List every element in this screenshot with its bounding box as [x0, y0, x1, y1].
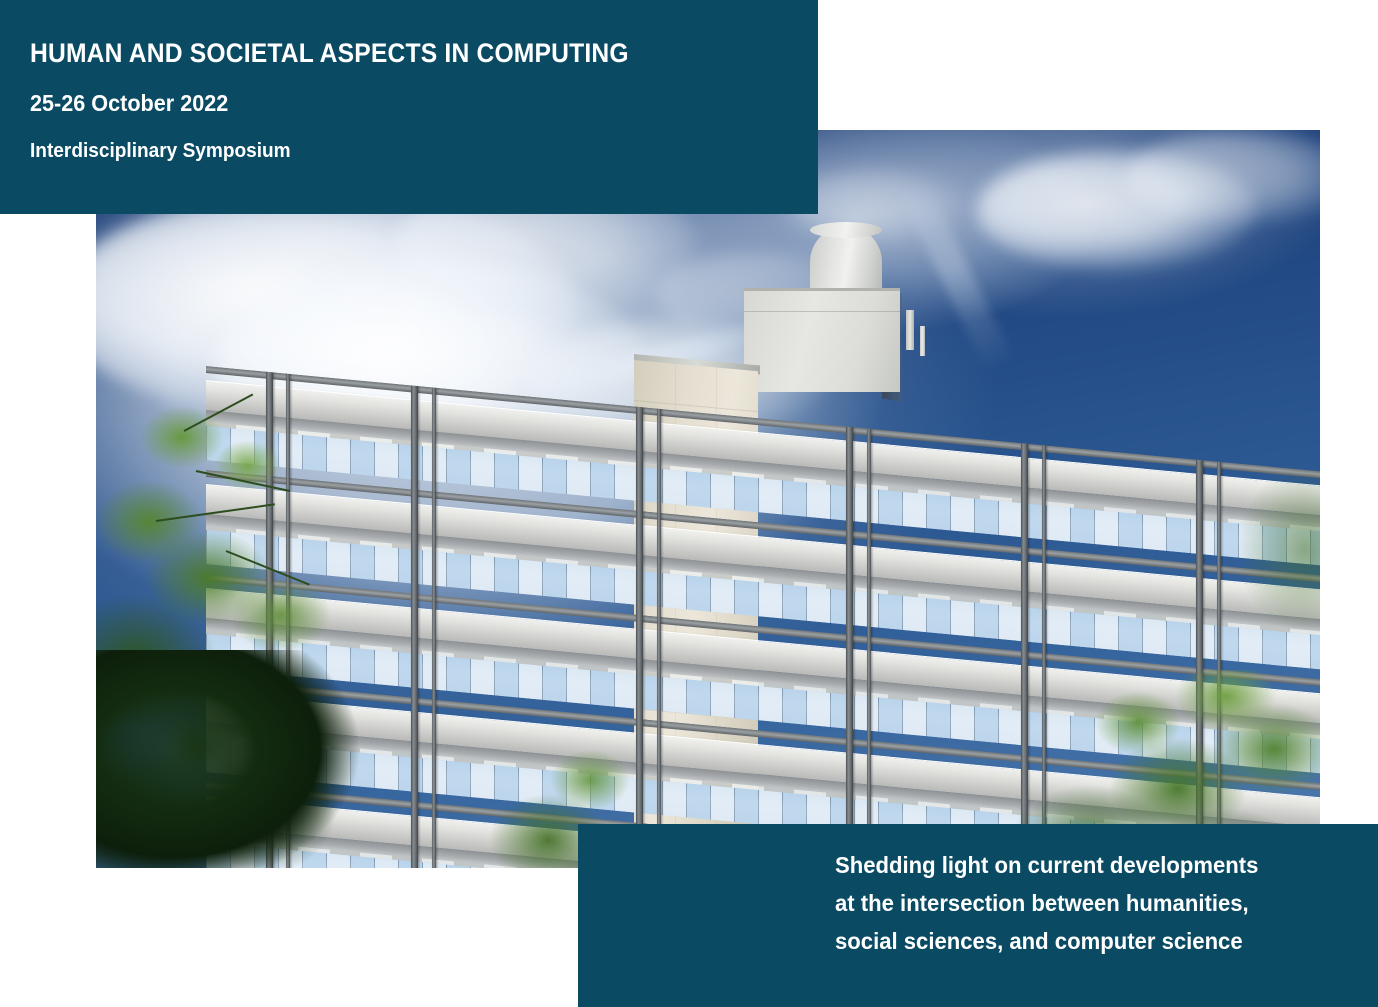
facade-mullion	[846, 426, 853, 868]
rooftop-cylinder-cap	[810, 222, 882, 238]
tagline-line-3: social sciences, and computer science	[835, 922, 1314, 960]
event-subtitle: Interdisciplinary Symposium	[30, 141, 735, 162]
rooftop-pipe	[920, 326, 925, 356]
facade-mullion	[432, 387, 436, 868]
tree-foliage-dark	[96, 650, 386, 868]
rooftop-pipe	[906, 310, 914, 350]
event-dates: 25-26 October 2022	[30, 92, 727, 116]
tagline-block: Shedding light on current developments a…	[835, 846, 1314, 960]
page-title: HUMAN AND SOCIETAL ASPECTS IN COMPUTING	[30, 40, 735, 67]
photo-inner	[96, 130, 1320, 868]
rooftop-plant-box	[744, 288, 900, 392]
poster-root: HUMAN AND SOCIETAL ASPECTS IN COMPUTING …	[0, 0, 1378, 1007]
facade-mullion	[867, 428, 871, 868]
header-banner: HUMAN AND SOCIETAL ASPECTS IN COMPUTING …	[0, 0, 818, 214]
tree-foliage	[1200, 430, 1320, 630]
building-photo	[96, 130, 1320, 868]
tagline-line-2: at the intersection between humanities,	[835, 884, 1314, 922]
tagline-line-1: Shedding light on current developments	[835, 846, 1314, 884]
tagline-banner: Shedding light on current developments a…	[578, 824, 1378, 1007]
